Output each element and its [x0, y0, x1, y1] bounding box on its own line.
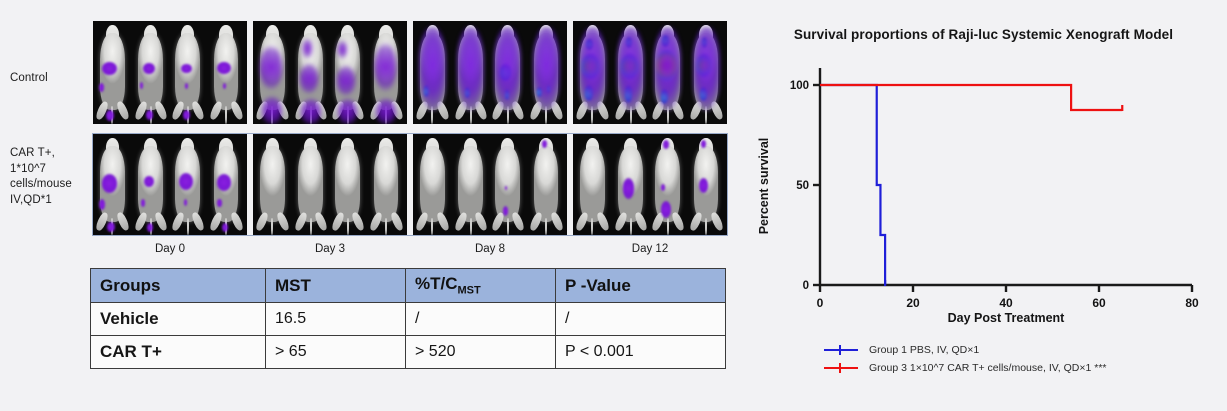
- imaging-row-control: [93, 21, 727, 124]
- table-header-mst: MST: [266, 269, 406, 303]
- table-cell-group-cart: CAR T+: [91, 336, 266, 369]
- imaging-row-label-car-t: CAR T+, 1*10^7 cells/mouse IV,QD*1: [10, 146, 88, 208]
- timepoint-label-day8: Day 8: [413, 243, 567, 255]
- timepoint-label-day3: Day 3: [253, 243, 407, 255]
- table-cell-pvalue-vehicle: /: [556, 303, 726, 336]
- y-tick-label-100: 100: [790, 80, 809, 92]
- legend-label-group3: Group 3 1×10^7 CAR T+ cells/mouse, IV, Q…: [869, 362, 1107, 374]
- table-cell-pvalue-cart: P < 0.001: [556, 336, 726, 369]
- y-tick-label-0: 0: [803, 280, 809, 292]
- imaging-cell-cart-day3: [253, 134, 407, 235]
- timepoint-labels: Day 0 Day 3 Day 8 Day 12: [93, 243, 727, 255]
- legend-item-group3[interactable]: Group 3 1×10^7 CAR T+ cells/mouse, IV, Q…: [824, 359, 1107, 377]
- x-tick-label-20: 20: [906, 296, 920, 310]
- timepoint-label-day0: Day 0: [93, 243, 247, 255]
- table-header-tc-subscript: MST: [458, 285, 481, 297]
- x-tick-label-0: 0: [817, 296, 824, 310]
- chart-legend: Group 1 PBS, IV, QD×1 Group 3 1×10^7 CAR…: [824, 341, 1107, 377]
- imaging-cell-cart-day12: [573, 134, 727, 235]
- legend-label-group1: Group 1 PBS, IV, QD×1: [869, 344, 979, 356]
- results-table: Groups MST %T/CMST P -Value Vehicle 16.5…: [90, 268, 726, 369]
- timepoint-label-day12: Day 12: [573, 243, 727, 255]
- table-header-groups: Groups: [91, 269, 266, 303]
- table-header-tc: %T/CMST: [406, 269, 556, 303]
- series-line-2: [820, 85, 1122, 110]
- y-tick-label-50: 50: [796, 180, 809, 192]
- x-tick-label-80: 80: [1185, 296, 1199, 310]
- imaging-row-label-control: Control: [10, 71, 88, 87]
- legend-line-icon-group3: [824, 362, 858, 374]
- x-axis-tick-labels: 020406080: [817, 296, 1199, 310]
- imaging-cell-cart-day0: [93, 134, 247, 235]
- y-axis-tick-labels: 050100: [790, 80, 809, 292]
- imaging-row-car-t: [92, 133, 728, 236]
- x-axis-title: Day Post Treatment: [948, 311, 1066, 325]
- legend-line-icon-group1: [824, 344, 858, 356]
- table-cell-mst-cart: > 65: [266, 336, 406, 369]
- imaging-cell-control-day3: [253, 21, 407, 124]
- table-header-tc-main: %T/C: [415, 274, 458, 293]
- y-axis-title: Percent survival: [757, 138, 771, 235]
- table-row: CAR T+ > 65 > 520 P < 0.001: [91, 336, 726, 369]
- table-header-row: Groups MST %T/CMST P -Value: [91, 269, 726, 303]
- imaging-cell-control-day12: [573, 21, 727, 124]
- table-cell-tc-cart: > 520: [406, 336, 556, 369]
- table-header-pvalue: P -Value: [556, 269, 726, 303]
- x-tick-label-40: 40: [999, 296, 1013, 310]
- survival-chart: Survival proportions of Raji-luc Systemi…: [740, 0, 1227, 411]
- x-tick-label-60: 60: [1092, 296, 1106, 310]
- chart-series: [820, 85, 1122, 286]
- table-row: Vehicle 16.5 / /: [91, 303, 726, 336]
- imaging-cell-control-day8: [413, 21, 567, 124]
- table-cell-group-vehicle: Vehicle: [91, 303, 266, 336]
- imaging-cell-cart-day8: [413, 134, 567, 235]
- series-line-1: [820, 85, 885, 285]
- imaging-panel: Control CAR T+, 1*10^7 cells/mouse IV,QD…: [0, 0, 740, 411]
- table-cell-mst-vehicle: 16.5: [266, 303, 406, 336]
- imaging-cell-control-day0: [93, 21, 247, 124]
- table-cell-tc-vehicle: /: [406, 303, 556, 336]
- legend-item-group1[interactable]: Group 1 PBS, IV, QD×1: [824, 341, 1107, 359]
